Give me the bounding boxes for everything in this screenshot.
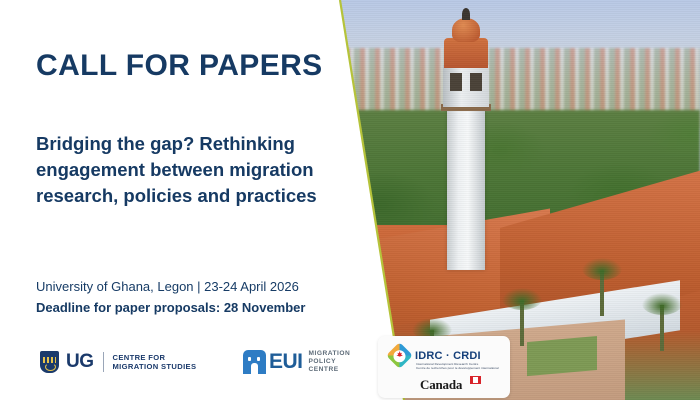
logo-ug-centre-for-migration-studies: UG CENTRE FOR MIGRATION STUDIES xyxy=(40,351,196,373)
balme-tower-belfry xyxy=(443,65,489,107)
photo-palm-tree xyxy=(600,270,604,316)
ug-shield-icon xyxy=(40,351,59,373)
submission-deadline: Deadline for paper proposals: 28 Novembe… xyxy=(36,300,305,315)
eui-centre-name: MIGRATION POLICY CENTRE xyxy=(309,350,351,374)
canada-wordmark: Canada xyxy=(420,377,462,393)
conference-theme: Bridging the gap? Rethinking engagement … xyxy=(36,131,336,209)
idrc-fine-print-fr: Centre de recherches pour le développeme… xyxy=(416,366,504,370)
eui-wordmark: EUI xyxy=(269,350,303,374)
ug-centre-line2: MIGRATION STUDIES xyxy=(113,362,197,371)
eui-arch-icon xyxy=(243,350,266,374)
eui-centre-line2: POLICY xyxy=(309,358,351,366)
ug-centre-line1: CENTRE FOR xyxy=(113,353,197,362)
ug-centre-name: CENTRE FOR MIGRATION STUDIES xyxy=(113,353,197,372)
venue-and-date: University of Ghana, Legon | 23-24 April… xyxy=(36,279,299,294)
balme-tower-shaft xyxy=(447,105,485,270)
logo-idrc-crdi-canada: IDRC · CRDI International Development Re… xyxy=(378,336,510,398)
canada-flag-icon xyxy=(470,376,481,384)
text-column: CALL FOR PAPERS Bridging the gap? Rethin… xyxy=(0,0,345,400)
idrc-fine-print: International Development Research Centr… xyxy=(416,362,504,371)
photo-palm-tree xyxy=(520,300,524,346)
logo-eui-migration-policy-centre: EUI MIGRATION POLICY CENTRE xyxy=(243,350,350,374)
idrc-wordmark: IDRC · CRDI xyxy=(415,350,481,362)
balme-tower-finial xyxy=(462,8,470,20)
eui-centre-line1: MIGRATION xyxy=(309,350,351,358)
photo-palm-tree xyxy=(660,305,664,351)
idrc-diamond-icon xyxy=(386,342,413,369)
page-title: CALL FOR PAPERS xyxy=(36,49,323,83)
ug-wordmark: UG xyxy=(66,351,94,373)
balme-tower-dome xyxy=(452,18,480,42)
eui-centre-line3: CENTRE xyxy=(309,366,351,374)
logo-divider xyxy=(103,352,104,372)
call-for-papers-poster: CALL FOR PAPERS Bridging the gap? Rethin… xyxy=(0,0,700,400)
balme-tower-cap xyxy=(444,38,488,68)
